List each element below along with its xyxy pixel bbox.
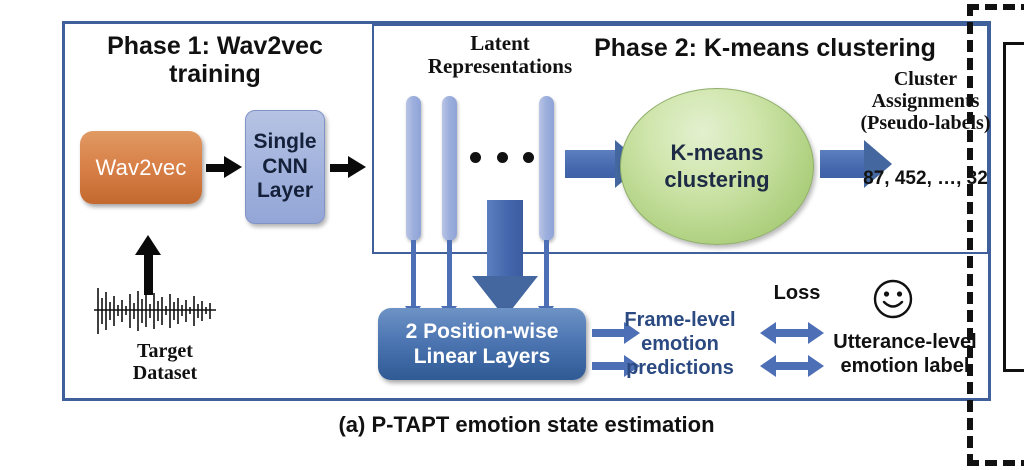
- frame-level-predictions-label: Frame-level emotion predictions: [605, 308, 755, 380]
- wav2vec-block[interactable]: Wav2vec: [80, 131, 202, 204]
- linear-layers-label: 2 Position-wise Linear Layers: [406, 319, 559, 369]
- single-cnn-layer-block[interactable]: Single CNN Layer: [245, 110, 325, 224]
- cnn-label-line3: Layer: [253, 179, 316, 204]
- arrow-wav2vec-to-cnn: [206, 160, 242, 175]
- latent-bar-1: [406, 96, 421, 241]
- dashed-region-border: [967, 4, 1024, 466]
- wav2vec-label: Wav2vec: [95, 155, 186, 181]
- kmeans-label-line2: clustering: [664, 167, 769, 193]
- latent-label-line2: Representations: [405, 55, 595, 78]
- cnn-label-line1: Single: [253, 130, 316, 155]
- kmeans-label-line1: K-means: [664, 140, 769, 166]
- arrow-latent-bar-1-down: [405, 240, 421, 318]
- linear-label-line2: Linear Layers: [406, 344, 559, 369]
- position-wise-linear-layers-block[interactable]: 2 Position-wise Linear Layers: [378, 308, 586, 380]
- figure-caption: (a) P-TAPT emotion state estimation: [62, 412, 991, 438]
- cnn-label-line2: CNN: [253, 155, 316, 180]
- arrow-latent-bar-3-down: [538, 240, 554, 318]
- latent-label-line1: Latent: [405, 32, 595, 55]
- utterance-line2: emotion label: [820, 354, 990, 378]
- arrow-loss-1: [760, 325, 824, 341]
- arrow-latent-bar-2-down: [441, 240, 457, 318]
- cnn-label: Single CNN Layer: [253, 130, 316, 204]
- latent-representations-label: Latent Representations: [405, 32, 595, 78]
- kmeans-clustering-node[interactable]: K-means clustering: [620, 88, 814, 245]
- arrow-cnn-to-latent: [330, 160, 366, 175]
- frame-pred-line1: Frame-level: [605, 308, 755, 332]
- arrow-latent-to-linear-layers: [472, 200, 538, 318]
- target-dataset-label: Target Dataset: [105, 340, 225, 384]
- loss-label: Loss: [768, 282, 826, 305]
- audio-waveform-icon: [90, 280, 220, 340]
- frame-pred-line2: emotion: [605, 332, 755, 356]
- arrow-loss-2: [760, 358, 824, 374]
- latent-ellipsis-icon: [470, 150, 534, 164]
- phase1-title-line2: training: [80, 60, 350, 88]
- target-dataset-line1: Target: [105, 340, 225, 362]
- kmeans-label: K-means clustering: [664, 140, 769, 193]
- latent-bar-2: [442, 96, 457, 241]
- phase1-title-line1: Phase 1: Wav2vec: [80, 32, 350, 60]
- phase2-title: Phase 2: K-means clustering: [575, 34, 955, 62]
- phase1-title: Phase 1: Wav2vec training: [80, 32, 350, 88]
- frame-pred-line3: predictions: [605, 356, 755, 380]
- utterance-line1: Utterance-level: [820, 330, 990, 354]
- latent-bar-3: [539, 96, 554, 241]
- smiley-face-icon: [872, 278, 914, 320]
- target-dataset-line2: Dataset: [105, 362, 225, 384]
- utterance-level-label: Utterance-level emotion label: [820, 330, 990, 378]
- linear-label-line1: 2 Position-wise: [406, 319, 559, 344]
